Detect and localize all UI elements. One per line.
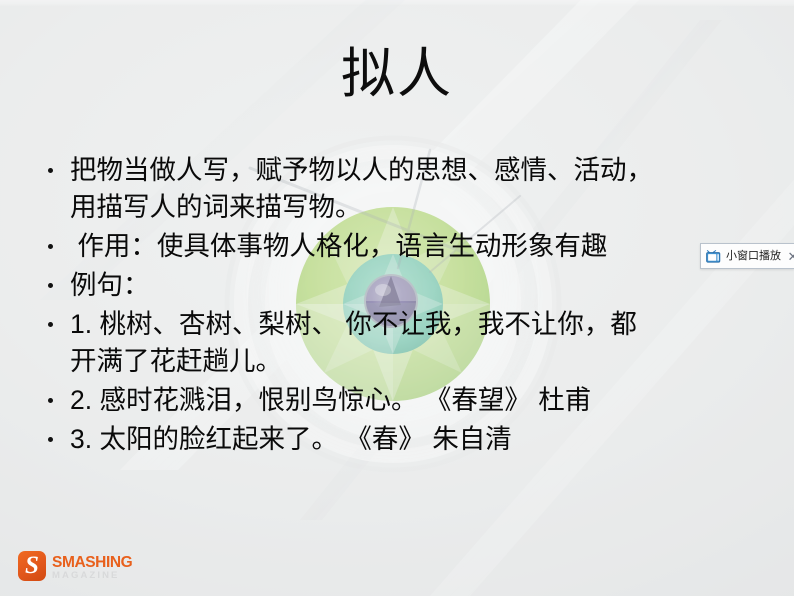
bullet-line: 2. 感时花溅泪，恨别鸟惊心。 《春望》 杜甫 (70, 382, 756, 419)
list-item: 例句： (40, 267, 756, 304)
list-item: 3. 太阳的脸红起来了。 《春》 朱自清 (40, 421, 756, 458)
bullet-line: 1. 桃树、杏树、梨树、 你不让我，我不让你，都 (70, 306, 756, 343)
list-item: 把物当做人写，赋予物以人的思想、感情、活动， 用描写人的词来描写物。 (40, 152, 756, 226)
logo-wordmark: SMASHING MAGAZINE (52, 551, 132, 581)
list-item: 作用：使具体事物人格化，语言生动形象有趣 (40, 228, 756, 265)
list-item: 2. 感时花溅泪，恨别鸟惊心。 《春望》 杜甫 (40, 382, 756, 419)
bullet-line: 把物当做人写，赋予物以人的思想、感情、活动， (70, 152, 756, 189)
bullet-line: 例句： (70, 267, 756, 304)
bullet-line: 用描写人的词来描写物。 (70, 189, 756, 226)
logo-secondary-word: MAGAZINE (52, 570, 132, 581)
logo-letter: S (18, 550, 46, 581)
bullet-line: 3. 太阳的脸红起来了。 《春》 朱自清 (70, 421, 756, 458)
logo-primary-word: SMASHING (52, 555, 132, 570)
slide-top-edge-band (0, 0, 794, 6)
smashing-magazine-logo: S SMASHING MAGAZINE (18, 551, 132, 581)
slide-bullet-list: 把物当做人写，赋予物以人的思想、感情、活动， 用描写人的词来描写物。 作用：使具… (40, 152, 756, 460)
list-item: 1. 桃树、杏树、梨树、 你不让我，我不让你，都 开满了花赶趟儿。 (40, 306, 756, 380)
slide-title: 拟人 (0, 44, 794, 104)
mini-window-playback-widget[interactable]: 小窗口播放 ✕ (700, 243, 794, 269)
bullet-line: 作用：使具体事物人格化，语言生动形象有趣 (70, 228, 756, 265)
tv-monitor-icon (706, 250, 721, 263)
bullet-line: 开满了花赶趟儿。 (70, 343, 756, 380)
logo-mark-icon: S (18, 551, 46, 581)
presentation-slide: 拟人 把物当做人写，赋予物以人的思想、感情、活动， 用描写人的词来描写物。 作用… (0, 0, 794, 596)
close-icon[interactable]: ✕ (786, 250, 794, 263)
mini-player-label: 小窗口播放 (726, 251, 781, 262)
